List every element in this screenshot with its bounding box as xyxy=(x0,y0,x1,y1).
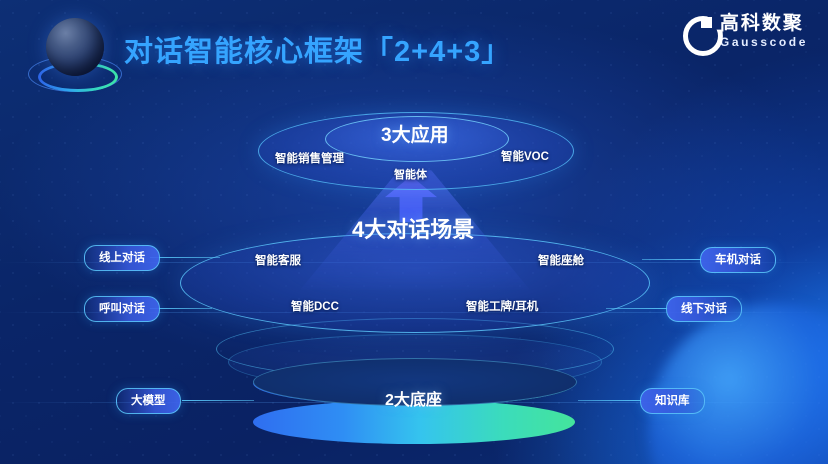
node-smart-sales-management[interactable]: 智能销售管理 xyxy=(275,150,344,166)
scenarios-tier-title: 4大对话场景 xyxy=(352,212,474,244)
connector-offline-dialog xyxy=(606,308,668,309)
node-smart-dcc[interactable]: 智能DCC xyxy=(291,298,339,314)
gausscode-g-icon xyxy=(683,16,713,46)
applications-tier-title: 3大应用 xyxy=(381,120,449,147)
node-smart-cockpit[interactable]: 智能座舱 xyxy=(538,252,584,268)
connector-vehicle-dialog xyxy=(642,259,702,260)
pill-offline-dialog[interactable]: 线下对话 xyxy=(666,296,742,322)
connector-knowledge-base xyxy=(578,400,642,401)
pill-knowledge-base[interactable]: 知识库 xyxy=(640,388,705,414)
slide-canvas: 对话智能核心框架「2+4+3」 高科数聚 Gausscode 3大应用 4大对话… xyxy=(0,0,828,464)
node-smart-badge-headset[interactable]: 智能工牌/耳机 xyxy=(466,298,538,314)
pill-large-model[interactable]: 大模型 xyxy=(116,388,181,414)
logo-english-name: Gausscode xyxy=(720,36,808,48)
scenarios-ellipse xyxy=(180,233,650,333)
page-title: 对话智能核心框架「2+4+3」 xyxy=(124,28,511,70)
background-globe-glow xyxy=(648,304,828,464)
node-smart-customer-service[interactable]: 智能客服 xyxy=(255,252,301,268)
company-logo: 高科数聚 Gausscode xyxy=(683,14,808,48)
pill-call-dialog[interactable]: 呼叫对话 xyxy=(84,296,160,322)
foundation-tier-title: 2大底座 xyxy=(385,386,442,410)
pill-online-dialog[interactable]: 线上对话 xyxy=(84,245,160,271)
pill-vehicle-dialog[interactable]: 车机对话 xyxy=(700,247,776,273)
sphere-ball-icon xyxy=(46,18,104,76)
node-smart-voc[interactable]: 智能VOC xyxy=(501,148,549,164)
logo-chinese-name: 高科数聚 xyxy=(720,14,808,33)
brand-sphere-icon xyxy=(28,12,120,100)
connector-large-model xyxy=(182,400,254,401)
connector-online-dialog xyxy=(150,257,220,258)
node-agent[interactable]: 智能体 xyxy=(394,166,427,182)
